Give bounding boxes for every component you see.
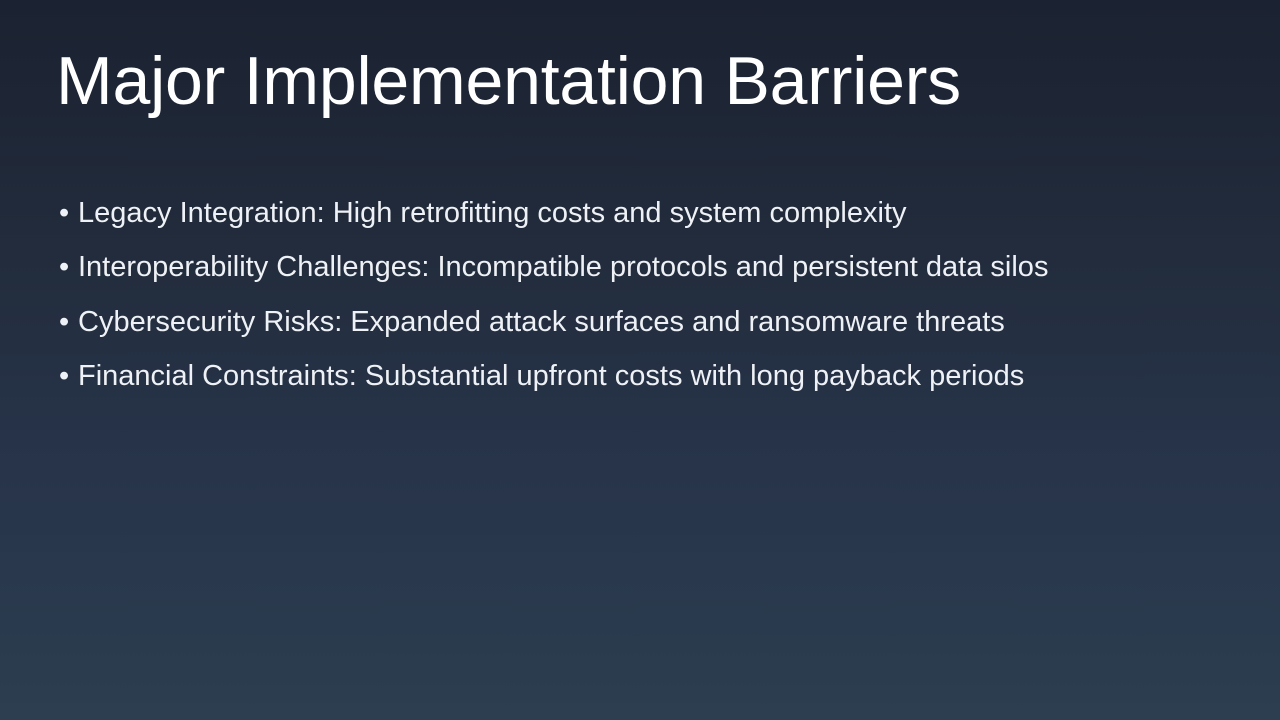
presentation-slide: Major Implementation Barriers • Legacy I… — [0, 0, 1280, 720]
bullet-point-icon: • — [56, 253, 78, 282]
list-item-label: Cybersecurity Risks: Expanded attack sur… — [78, 308, 1005, 337]
bullet-list: • Legacy Integration: High retrofitting … — [56, 186, 1236, 404]
list-item: • Interoperability Challenges: Incompati… — [56, 241, 1236, 296]
list-item-label: Interoperability Challenges: Incompatibl… — [78, 253, 1048, 282]
bullet-point-icon: • — [56, 362, 78, 391]
list-item-label: Legacy Integration: High retrofitting co… — [78, 199, 907, 228]
bullet-point-icon: • — [56, 308, 78, 337]
slide-title: Major Implementation Barriers — [56, 47, 1226, 115]
list-item: • Financial Constraints: Substantial upf… — [56, 350, 1236, 405]
list-item: • Cybersecurity Risks: Expanded attack s… — [56, 295, 1236, 350]
bullet-point-icon: • — [56, 199, 78, 228]
list-item: • Legacy Integration: High retrofitting … — [56, 186, 1236, 241]
list-item-label: Financial Constraints: Substantial upfro… — [78, 362, 1024, 391]
